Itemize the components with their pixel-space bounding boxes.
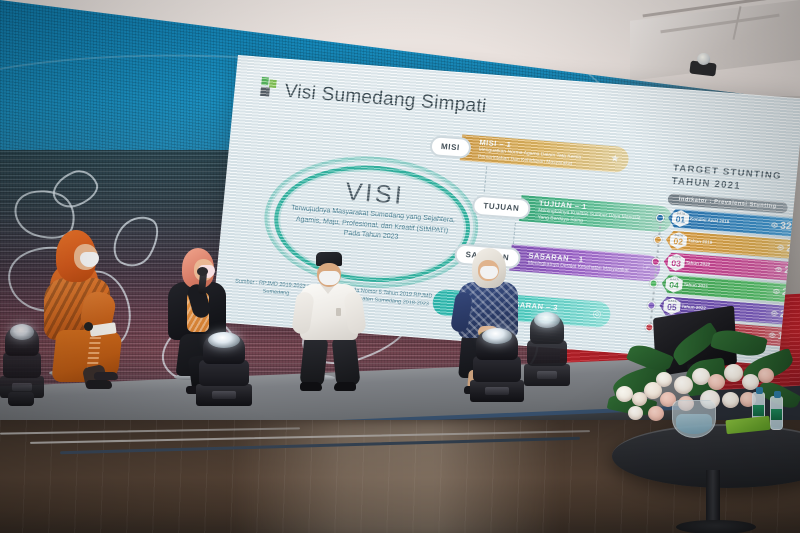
shoe [94,372,118,380]
rose [724,364,743,382]
target-label: Tahun 2021 [683,282,708,289]
vase-water [676,414,712,434]
flow-bar-sasaran: SASARAN – 1 Meningkatnya Derajat Kesehat… [509,245,661,282]
water-bottle-2 [770,396,783,430]
conference-stage-photo: Visi Sumedang Simpati VISI Terwujudnya M… [0,0,800,533]
flow-badge-tujuan: TUJUAN [471,194,531,219]
timeline-dot [649,279,658,288]
floor-uplight [8,392,34,406]
flow-row-tujuan: TUJUAN TUJUAN – 1 Meningkatnya Kualitas … [471,191,673,232]
target-label: Tahun 2019 [688,238,713,245]
rose [648,406,664,421]
target-label: Kondisi Awal 2018 [690,216,730,225]
target-number-badge: DATA 05 [663,297,682,315]
shoe-left [300,382,322,391]
id-badge [336,308,341,316]
moving-head-light-1 [196,330,252,406]
rose [628,406,643,420]
indikator-icon: ◎ [592,308,602,320]
moving-head-light-3 [524,322,570,386]
rose [722,392,739,408]
rose [616,386,633,402]
flow-row-misi: MISI MISI – 1 Menguatkan Norma Agama Dal… [429,132,630,173]
microphone-head-icon [197,267,208,276]
face-mask [80,252,99,267]
flow-bar-tujuan: TUJUAN – 1 Meningkatnya Kualitas Sumber … [519,195,673,233]
shoe [86,380,112,389]
moving-head-light-4 [0,332,44,398]
target-number-badge: DATA 03 [667,253,686,271]
target-number-badge: DATA 04 [665,275,684,293]
rose [708,374,725,390]
foliage [710,326,768,360]
panelist-3 [292,252,368,398]
moving-head-light-2 [470,328,524,402]
table-foot [676,520,756,533]
target-number-badge: DATA 02 [669,231,688,249]
slide-title: Visi Sumedang Simpati [284,81,488,118]
leg-left [299,335,328,387]
shoe-right [334,382,356,391]
sumedang-logo [260,77,278,98]
timeline-dot [647,301,656,310]
timeline-dot [654,235,663,244]
rose [758,368,774,383]
flow-badge-misi: MISI [429,135,472,159]
target-label: Tahun 2020 [685,260,710,267]
microphone-icon [84,322,93,331]
face-mask [480,266,498,279]
timeline-dot [651,257,660,266]
rose [656,372,672,387]
target-number-badge: DATA 01 [671,209,690,227]
rose [674,376,693,394]
leg-right [331,335,360,387]
flow-connector [484,166,488,192]
misi-icon: ★ [610,153,620,165]
face-mask [319,271,340,285]
timeline-dot [656,213,665,222]
